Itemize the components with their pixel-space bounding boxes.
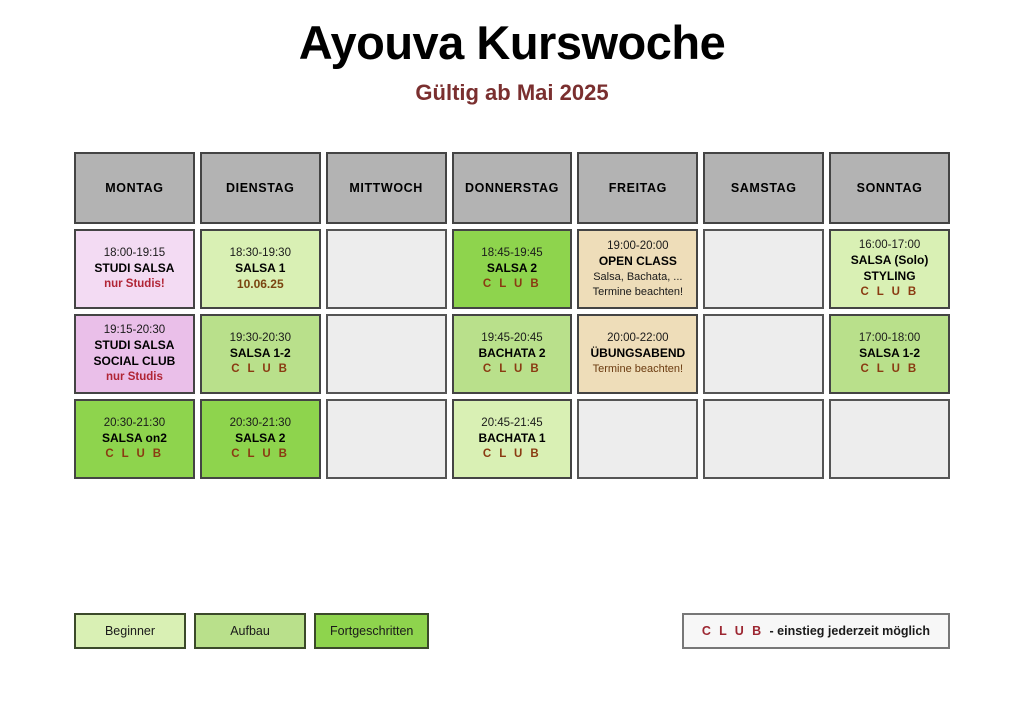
schedule-grid: MONTAGDIENSTAGMITTWOCHDONNERSTAGFREITAGS… bbox=[74, 152, 950, 479]
schedule-cell[interactable]: 19:15-20:30STUDI SALSASOCIAL CLUBnur Stu… bbox=[74, 314, 195, 394]
course-club-tag: C L U B bbox=[105, 447, 163, 462]
legend-chip-aufbau: Aufbau bbox=[194, 613, 306, 649]
course-title: SALSA 1-2 bbox=[859, 346, 920, 362]
course-title: SALSA (Solo) bbox=[851, 253, 929, 269]
course-club-tag: C L U B bbox=[861, 285, 919, 300]
club-note: C L U B - einstieg jederzeit möglich bbox=[682, 613, 950, 649]
course-title: OPEN CLASS bbox=[599, 254, 677, 270]
schedule-cell[interactable]: 18:30-19:30SALSA 110.06.25 bbox=[200, 229, 321, 309]
day-header-dienstag: DIENSTAG bbox=[200, 152, 321, 224]
course-time: 19:45-20:45 bbox=[481, 331, 542, 346]
course-note: Salsa, Bachata, ... bbox=[593, 270, 682, 285]
course-title: BACHATA 1 bbox=[478, 431, 545, 447]
course-time: 20:00-22:00 bbox=[607, 331, 668, 346]
schedule-cell-empty bbox=[326, 229, 447, 309]
course-time: 20:30-21:30 bbox=[230, 416, 291, 431]
course-time: 19:15-20:30 bbox=[104, 323, 165, 338]
schedule-cell[interactable]: 20:30-21:30SALSA 2C L U B bbox=[200, 399, 321, 479]
legend-chip-beginner: Beginner bbox=[74, 613, 186, 649]
course-club-tag: C L U B bbox=[483, 362, 541, 377]
club-note-word: C L U B bbox=[702, 624, 764, 638]
course-time: 20:45-21:45 bbox=[481, 416, 542, 431]
course-title: SALSA 2 bbox=[487, 261, 537, 277]
day-header-montag: MONTAG bbox=[74, 152, 195, 224]
course-title: STUDI SALSA bbox=[94, 338, 174, 354]
legend: BeginnerAufbauFortgeschritten C L U B - … bbox=[74, 613, 950, 649]
schedule-cell[interactable]: 16:00-17:00SALSA (Solo)STYLINGC L U B bbox=[829, 229, 950, 309]
day-header-freitag: FREITAG bbox=[577, 152, 698, 224]
course-title: SALSA 1-2 bbox=[230, 346, 291, 362]
course-note-red: nur Studis bbox=[106, 370, 163, 385]
course-note-brown: Termine beachten! bbox=[593, 362, 684, 377]
course-club-tag: C L U B bbox=[231, 447, 289, 462]
course-club-tag: C L U B bbox=[483, 447, 541, 462]
schedule-cell[interactable]: 20:00-22:00ÜBUNGSABENDTermine beachten! bbox=[577, 314, 698, 394]
course-title-second: STYLING bbox=[864, 269, 916, 285]
course-note-red: nur Studis! bbox=[104, 277, 165, 292]
course-time: 17:00-18:00 bbox=[859, 331, 920, 346]
course-title: BACHATA 2 bbox=[478, 346, 545, 362]
course-title-second: SOCIAL CLUB bbox=[94, 354, 176, 370]
schedule-cell-empty bbox=[577, 399, 698, 479]
day-header-donnerstag: DONNERSTAG bbox=[452, 152, 573, 224]
legend-chip-fortgeschritten: Fortgeschritten bbox=[314, 613, 429, 649]
course-title: ÜBUNGSABEND bbox=[591, 346, 686, 362]
course-time: 18:45-19:45 bbox=[481, 246, 542, 261]
schedule-cell[interactable]: 18:00-19:15STUDI SALSAnur Studis! bbox=[74, 229, 195, 309]
schedule-cell[interactable]: 20:45-21:45BACHATA 1C L U B bbox=[452, 399, 573, 479]
schedule-cell[interactable]: 19:45-20:45BACHATA 2C L U B bbox=[452, 314, 573, 394]
club-note-text: - einstieg jederzeit möglich bbox=[770, 624, 930, 638]
course-time: 19:30-20:30 bbox=[230, 331, 291, 346]
schedule-cell-empty bbox=[829, 399, 950, 479]
schedule-cell[interactable]: 17:00-18:00SALSA 1-2C L U B bbox=[829, 314, 950, 394]
schedule-cell-empty bbox=[703, 399, 824, 479]
course-title: SALSA on2 bbox=[102, 431, 167, 447]
day-header-samstag: SAMSTAG bbox=[703, 152, 824, 224]
course-note-second: Termine beachten! bbox=[593, 285, 684, 300]
schedule-cell[interactable]: 19:00-20:00OPEN CLASSSalsa, Bachata, ...… bbox=[577, 229, 698, 309]
schedule-cell-empty bbox=[703, 314, 824, 394]
schedule-cell-empty bbox=[703, 229, 824, 309]
page-header: Ayouva Kurswoche Gültig ab Mai 2025 bbox=[0, 0, 1024, 106]
course-time: 19:00-20:00 bbox=[607, 239, 668, 254]
course-club-tag: C L U B bbox=[483, 277, 541, 292]
course-club-tag: C L U B bbox=[231, 362, 289, 377]
legend-chips: BeginnerAufbauFortgeschritten bbox=[74, 613, 429, 649]
course-date: 10.06.25 bbox=[237, 277, 284, 293]
course-title: SALSA 1 bbox=[235, 261, 285, 277]
schedule-cell[interactable]: 20:30-21:30SALSA on2C L U B bbox=[74, 399, 195, 479]
page-title: Ayouva Kurswoche bbox=[0, 18, 1024, 67]
schedule-cell[interactable]: 18:45-19:45SALSA 2C L U B bbox=[452, 229, 573, 309]
course-time: 16:00-17:00 bbox=[859, 238, 920, 253]
schedule-cell-empty bbox=[326, 314, 447, 394]
day-header-sonntag: SONNTAG bbox=[829, 152, 950, 224]
day-header-mittwoch: MITTWOCH bbox=[326, 152, 447, 224]
course-time: 18:30-19:30 bbox=[230, 246, 291, 261]
schedule-cell-empty bbox=[326, 399, 447, 479]
course-title: SALSA 2 bbox=[235, 431, 285, 447]
course-title: STUDI SALSA bbox=[94, 261, 174, 277]
page-subtitle: Gültig ab Mai 2025 bbox=[0, 81, 1024, 105]
schedule-cell[interactable]: 19:30-20:30SALSA 1-2C L U B bbox=[200, 314, 321, 394]
course-club-tag: C L U B bbox=[861, 362, 919, 377]
course-time: 20:30-21:30 bbox=[104, 416, 165, 431]
course-time: 18:00-19:15 bbox=[104, 246, 165, 261]
